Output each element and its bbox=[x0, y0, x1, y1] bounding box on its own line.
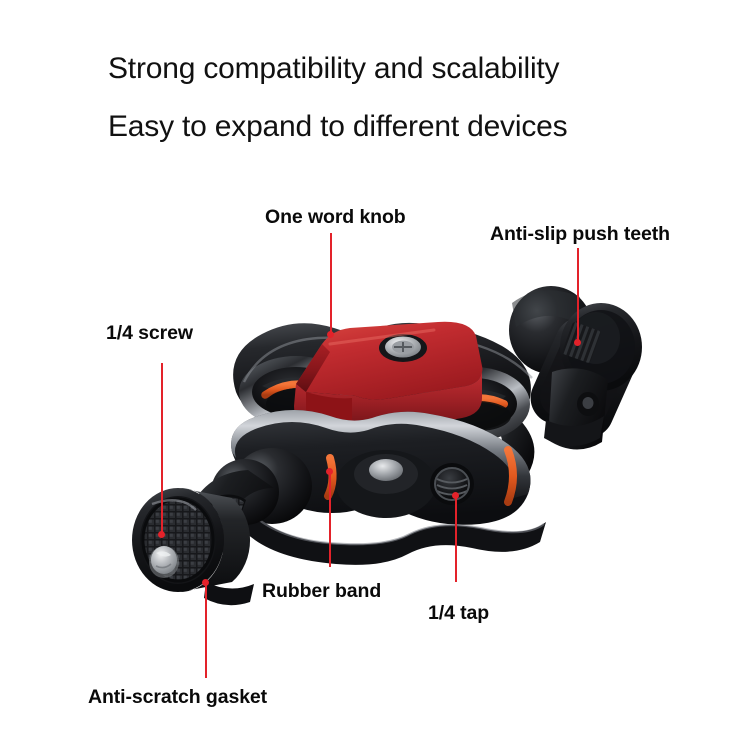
leader-quarter-tap bbox=[455, 496, 457, 582]
rubber-band-lower-right bbox=[508, 450, 513, 502]
anti-scratch-gasket-pad bbox=[143, 499, 213, 581]
left-arm-gasket-assembly bbox=[132, 459, 279, 592]
leader-anti-scratch-gasket bbox=[205, 583, 207, 678]
leader-dot-rubber-band bbox=[326, 468, 333, 475]
rubber-band-left bbox=[265, 384, 323, 395]
callout-one-word-knob: One word knob bbox=[265, 206, 406, 229]
left-ball-socket bbox=[239, 356, 353, 428]
infographic-canvas: Strong compatibility and scalability Eas… bbox=[0, 0, 750, 750]
arm-texture-window bbox=[202, 494, 246, 534]
lower-clamp-plate bbox=[231, 410, 546, 565]
knob-cap-screw bbox=[379, 334, 427, 362]
leader-one-word-knob bbox=[330, 233, 332, 335]
headline-line-2: Easy to expand to different devices bbox=[108, 112, 567, 142]
callout-quarter-tap: 1/4 tap bbox=[428, 602, 489, 625]
leader-anti-slip-push-teeth bbox=[577, 248, 579, 343]
right-ball-module bbox=[494, 286, 646, 474]
quarter-screw-head bbox=[149, 546, 179, 578]
one-word-knob-part bbox=[294, 322, 482, 450]
callout-rubber-band: Rubber band bbox=[262, 580, 381, 603]
headline-line-1: Strong compatibility and scalability bbox=[108, 54, 559, 84]
right-ball-socket bbox=[418, 367, 530, 441]
leader-dot-one-word-knob bbox=[327, 331, 334, 338]
gasket-disc-body bbox=[132, 488, 224, 592]
upper-clamp-plate bbox=[233, 323, 532, 443]
leader-dot-quarter-screw bbox=[158, 531, 165, 538]
leader-dot-quarter-tap bbox=[452, 492, 459, 499]
quarter-tap-hole bbox=[430, 463, 474, 505]
callout-anti-scratch-gasket: Anti-scratch gasket bbox=[88, 686, 267, 709]
leader-rubber-band bbox=[329, 472, 331, 567]
anti-slip-push-teeth-detail bbox=[562, 321, 602, 363]
leader-quarter-screw bbox=[161, 363, 163, 535]
callout-anti-slip-push-teeth: Anti-slip push teeth bbox=[490, 223, 670, 246]
leader-dot-anti-slip-push-teeth bbox=[574, 339, 581, 346]
center-pivot bbox=[360, 399, 412, 429]
leader-dot-anti-scratch-gasket bbox=[202, 579, 209, 586]
rubber-band-right bbox=[446, 398, 504, 410]
callout-quarter-screw: 1/4 screw bbox=[106, 322, 193, 345]
